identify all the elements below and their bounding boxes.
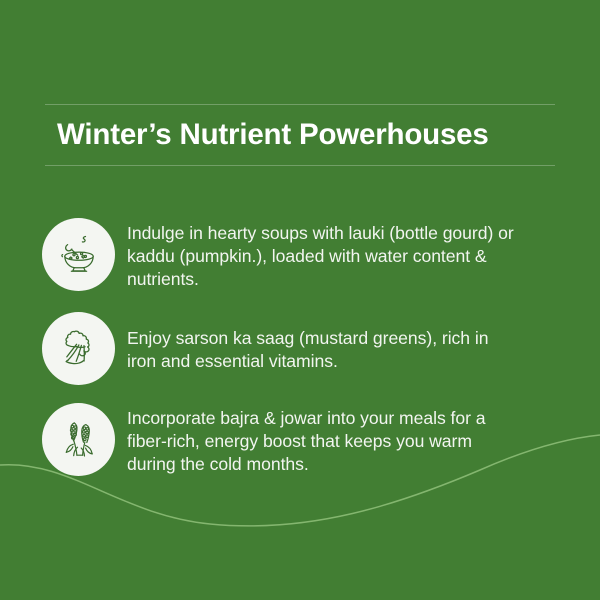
leafy-greens-icon-badge [42, 312, 115, 385]
list-item: Indulge in hearty soups with lauki (bott… [42, 218, 562, 292]
grain-stalks-icon-badge [42, 403, 115, 476]
grain-stalks-icon [54, 414, 104, 464]
page-title: Winter’s Nutrient Powerhouses [45, 105, 555, 165]
header: Winter’s Nutrient Powerhouses [45, 104, 555, 166]
list-item: Incorporate bajra & jowar into your meal… [42, 403, 562, 477]
header-divider-bottom [45, 165, 555, 166]
list-item-text: Incorporate bajra & jowar into your meal… [115, 403, 519, 477]
leafy-greens-icon [54, 323, 104, 373]
tips-list: Indulge in hearty soups with lauki (bott… [42, 218, 562, 476]
list-item-text: Enjoy sarson ka saag (mustard greens), r… [115, 312, 519, 373]
list-item: Enjoy sarson ka saag (mustard greens), r… [42, 312, 562, 385]
soup-bowl-icon-badge [42, 218, 115, 291]
list-item-text: Indulge in hearty soups with lauki (bott… [115, 218, 519, 292]
soup-bowl-icon [54, 230, 104, 280]
infographic-card: Winter’s Nutrient Powerhouses [0, 0, 600, 600]
